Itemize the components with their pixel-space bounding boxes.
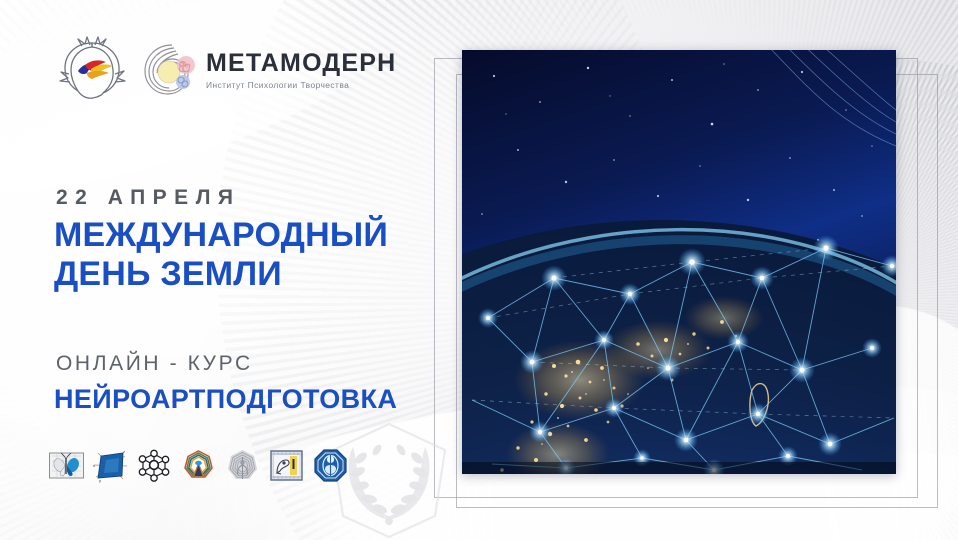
molecule-network-icon[interactable] <box>136 447 173 484</box>
course-label: ОНЛАЙН - КУРС <box>56 352 253 376</box>
color-heptagon-icon[interactable] <box>180 447 217 484</box>
program-icon-strip: zxy <box>48 447 349 484</box>
course-title: НЕЙРОАРТПОДГОТОВКА <box>54 384 397 415</box>
butterfly-artwork-icon[interactable] <box>48 447 85 484</box>
broken-circle-flame-logo <box>56 34 128 106</box>
event-date: 22 АПРЕЛЯ <box>56 186 241 210</box>
blue-emblem-icon[interactable] <box>312 447 349 484</box>
poster-canvas: МЕТАМОДЕРН Институт Психологии Творчеств… <box>0 0 958 540</box>
event-title: МЕЖДУНАРОДНЫЙ ДЕНЬ ЗЕМЛИ <box>54 216 388 295</box>
spiral-psyche-icon <box>142 41 200 99</box>
institute-logo: МЕТАМОДЕРН Институт Психологии Творчеств… <box>142 41 396 99</box>
institute-wordmark: МЕТАМОДЕРН <box>206 51 396 76</box>
event-title-line-1: МЕЖДУНАРОДНЫЙ <box>54 216 388 254</box>
brand-logo-row: МЕТАМОДЕРН Институт Психологии Творчеств… <box>56 34 396 106</box>
event-title-line-2: ДЕНЬ ЗЕМЛИ <box>54 255 388 294</box>
framed-art-icon[interactable] <box>268 447 305 484</box>
institute-subtitle: Институт Психологии Творчества <box>206 80 396 90</box>
gray-labyrinth-icon[interactable] <box>224 447 261 484</box>
earth-network-night-image <box>462 50 896 474</box>
blue-polygon-icon[interactable]: zxy <box>92 447 129 484</box>
institute-wordmark-block: МЕТАМОДЕРН Институт Психологии Творчеств… <box>206 51 396 90</box>
svg-text:y: y <box>99 478 101 483</box>
svg-text:z: z <box>123 449 125 454</box>
svg-text:x: x <box>93 463 95 468</box>
